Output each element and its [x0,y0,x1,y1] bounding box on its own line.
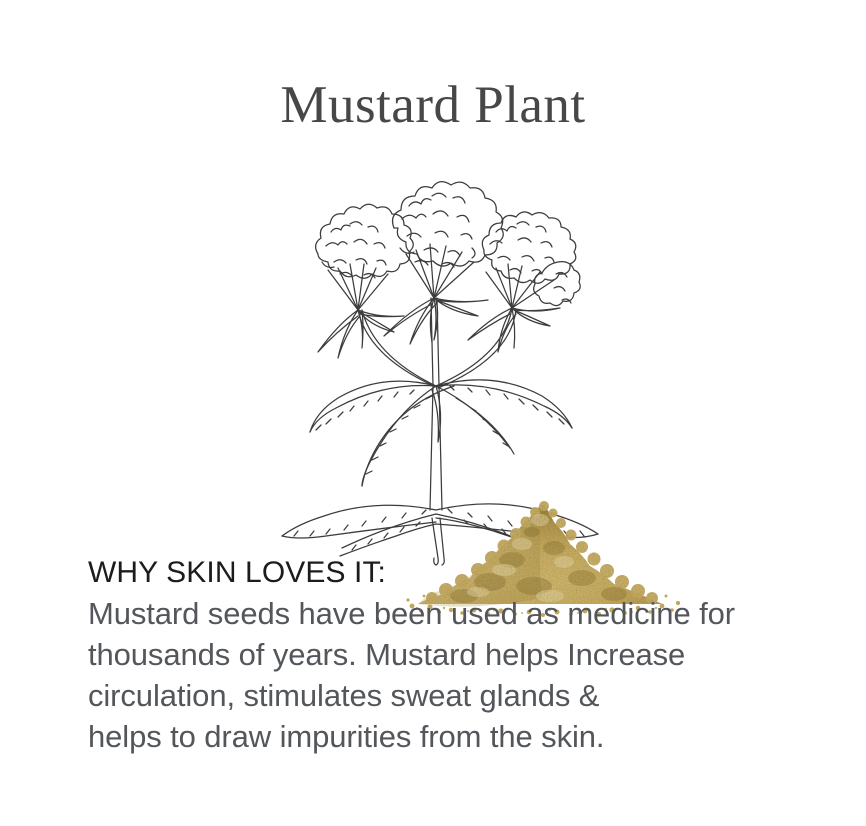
umbel-right [468,264,560,352]
flower-head-left [316,204,414,278]
body-line-3: circulation, stimulates sweat glands & [88,675,828,716]
umbel-center [384,244,488,344]
product-ingredient-card: Mustard Plant [0,0,866,826]
flower-head-right [482,212,580,306]
body-line-2: thousands of years. Mustard helps Increa… [88,634,828,675]
body-line-1: Mustard seeds have been used as medicine… [88,593,828,634]
page-title: Mustard Plant [0,74,866,136]
ingredient-copy-block: WHY SKIN LOVES IT: Mustard seeds have be… [88,552,828,757]
body-line-4: helps to draw impurities from the skin. [88,716,828,757]
why-skin-loves-it-heading: WHY SKIN LOVES IT: [88,552,828,593]
